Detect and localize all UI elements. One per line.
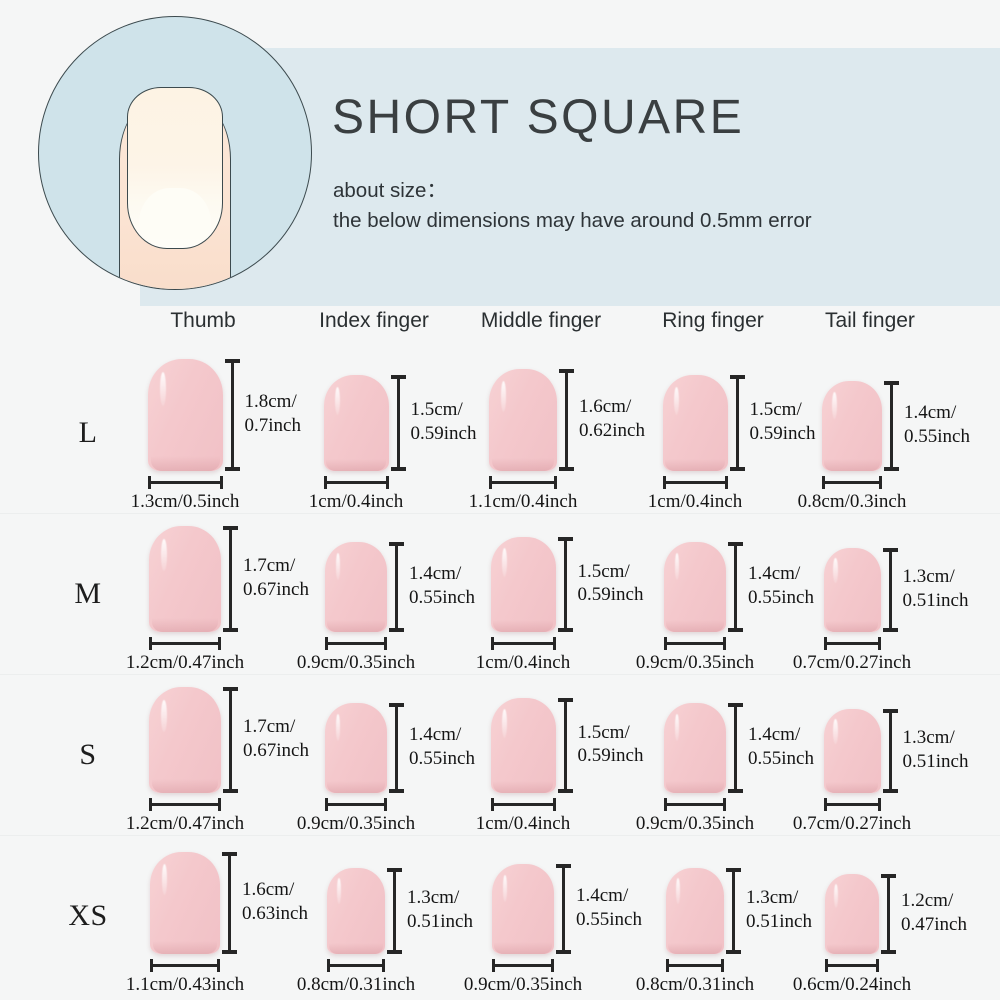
dimension-cap-top (883, 709, 898, 713)
dimension-cap-bottom (881, 950, 896, 954)
dimension-cap-left (824, 637, 827, 650)
height-value-cm: 1.2cm/ (901, 889, 967, 913)
height-value-inch: 0.51inch (903, 750, 969, 774)
height-value-inch: 0.55inch (904, 425, 970, 449)
nail-swatch (824, 548, 881, 632)
dimension-cap-left (822, 476, 825, 489)
width-dimension-line (825, 964, 879, 967)
height-value-cm: 1.3cm/ (903, 565, 969, 589)
height-dimension-label: 1.3cm/0.51inch (903, 726, 969, 774)
dimension-cap-right (878, 637, 881, 650)
height-dimension-label: 1.2cm/0.47inch (901, 889, 967, 937)
column-header-row: ThumbIndex fingerMiddle fingerRing finge… (0, 305, 1000, 353)
dimension-cap-right (876, 959, 879, 972)
height-value-inch: 0.47inch (901, 913, 967, 937)
nail-illustration-circle (38, 16, 312, 290)
dimension-cap-top (883, 548, 898, 552)
size-row-l: L1.8cm/0.7inch1.3cm/0.5inch1.5cm/0.59inc… (0, 353, 1000, 514)
height-value-cm: 1.4cm/ (904, 401, 970, 425)
error-tolerance-note: the below dimensions may have around 0.5… (333, 206, 812, 236)
width-dimension-line (822, 481, 882, 484)
nail-plate-illustration (127, 87, 223, 249)
header-banner: SHORT SQUARE about size： the below dimen… (0, 0, 1000, 305)
dimension-cap-left (825, 959, 828, 972)
size-cell: 1.2cm/0.47inch0.6cm/0.24inch (0, 836, 1000, 996)
size-row-m: M1.7cm/0.67inch1.2cm/0.47inch1.4cm/0.55i… (0, 514, 1000, 675)
size-cell: 1.3cm/0.51inch0.7cm/0.27inch (0, 514, 1000, 674)
height-dimension-label: 1.4cm/0.55inch (904, 401, 970, 449)
about-size-label: about size： (333, 176, 812, 206)
dimension-cap-bottom (884, 467, 899, 471)
size-cell: 1.3cm/0.51inch0.7cm/0.27inch (0, 675, 1000, 835)
width-dimension-label: 0.6cm/0.24inch (732, 974, 972, 996)
height-value-inch: 0.51inch (903, 589, 969, 613)
width-dimension-label: 0.7cm/0.27inch (732, 813, 972, 835)
dimension-cap-right (878, 798, 881, 811)
height-value-cm: 1.3cm/ (903, 726, 969, 750)
width-dimension-line (824, 642, 881, 645)
width-dimension-line (824, 803, 881, 806)
nail-swatch (825, 874, 879, 954)
size-cell: 1.4cm/0.55inch0.8cm/0.3inch (0, 353, 1000, 513)
height-dimension-label: 1.3cm/0.51inch (903, 565, 969, 613)
width-dimension-label: 0.7cm/0.27inch (732, 652, 972, 674)
column-header-tail-finger: Tail finger (750, 309, 990, 333)
dimension-cap-bottom (883, 628, 898, 632)
dimension-cap-top (884, 381, 899, 385)
size-row-s: S1.7cm/0.67inch1.2cm/0.47inch1.4cm/0.55i… (0, 675, 1000, 836)
height-dimension-line (890, 381, 893, 471)
size-row-xs: XS1.6cm/0.63inch1.1cm/0.43inch1.3cm/0.51… (0, 836, 1000, 996)
page-title: SHORT SQUARE (332, 94, 744, 142)
nail-swatch (822, 381, 882, 471)
nail-swatch (824, 709, 881, 793)
height-dimension-line (889, 548, 892, 632)
dimension-cap-top (881, 874, 896, 878)
nail-lunula (139, 188, 210, 246)
width-dimension-label: 0.8cm/0.3inch (732, 491, 972, 513)
height-dimension-line (889, 709, 892, 793)
dimension-cap-right (879, 476, 882, 489)
about-size-note: about size： the below dimensions may hav… (333, 176, 812, 235)
size-chart: ThumbIndex fingerMiddle fingerRing finge… (0, 305, 1000, 996)
dimension-cap-left (824, 798, 827, 811)
dimension-cap-bottom (883, 789, 898, 793)
height-dimension-line (887, 874, 890, 954)
